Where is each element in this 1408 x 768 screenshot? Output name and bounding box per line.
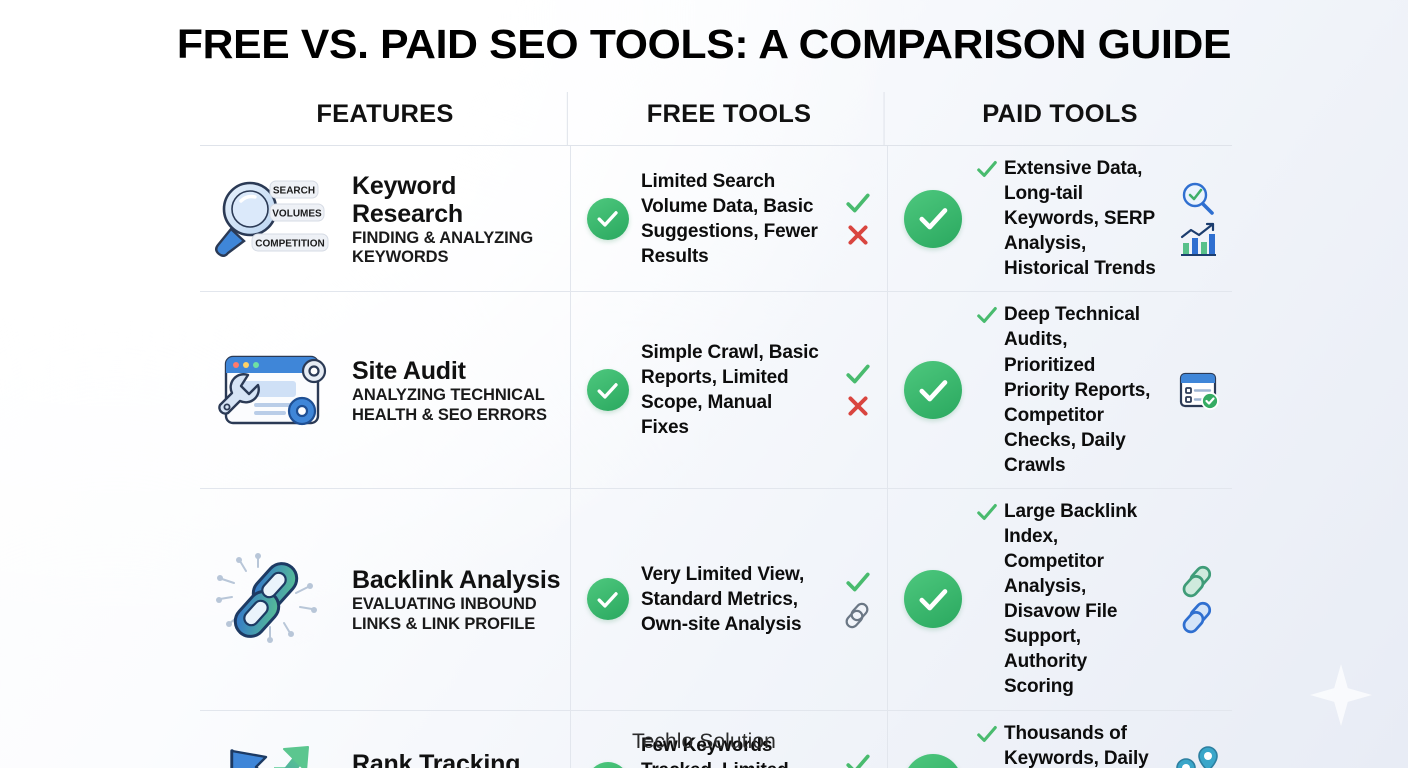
svg-text:VOLUMES: VOLUMES [272, 208, 322, 219]
feature-cell: Backlink Analysis EVALUATING INBOUND LIN… [200, 489, 570, 710]
site-audit-wrench-icon [210, 345, 338, 435]
paid-cell: Large Backlink Index, Competitor Analysi… [887, 489, 1232, 710]
free-value-text: Very Limited View, Standard Metrics, Own… [641, 562, 823, 637]
check-circle-icon [587, 369, 629, 411]
paid-cell: Deep Technical Audits, Prioritized Prior… [887, 292, 1232, 488]
check-circle-icon [587, 198, 629, 240]
free-cell: Very Limited View, Standard Metrics, Own… [570, 489, 887, 710]
check-icon [841, 361, 875, 387]
chain-link-network-icon [210, 553, 338, 645]
free-value-text: Limited Search Volume Data, Basic Sugges… [641, 169, 823, 269]
check-icon [974, 304, 1000, 326]
cross-icon [843, 393, 873, 419]
table-row: Backlink Analysis EVALUATING INBOUND LIN… [200, 489, 1232, 711]
feature-cell: SEARCH VOLUMES COMPETITION Keyword Resea… [200, 146, 570, 291]
svg-text:COMPETITION: COMPETITION [255, 238, 324, 249]
magnifier-keyword-icon: SEARCH VOLUMES COMPETITION [210, 173, 338, 265]
footer-brand: Techlo Solution [0, 730, 1408, 754]
paid-cell: Extensive Data, Long-tail Keywords, SERP… [887, 146, 1232, 291]
paid-value-text: Large Backlink Index, Competitor Analysi… [1004, 499, 1158, 700]
cross-icon [843, 222, 873, 248]
feature-name: Backlink Analysis [352, 566, 570, 594]
checklist-report-icon [1176, 368, 1220, 412]
svg-text:SEARCH: SEARCH [273, 185, 315, 196]
free-value-text: Simple Crawl, Basic Reports, Limited Sco… [641, 340, 823, 440]
check-icon [974, 158, 1000, 180]
feature-name: Site Audit [352, 357, 570, 385]
feature-name: Keyword Research [352, 172, 570, 228]
paid-value-text: Deep Technical Audits, Prioritized Prior… [1004, 302, 1158, 478]
free-cell: Simple Crawl, Basic Reports, Limited Sco… [570, 292, 887, 488]
column-header-features: FEATURES [196, 92, 573, 145]
feature-description: FINDING & ANALYZING KEYWORDS [352, 229, 570, 268]
feature-description: ANALYZING TECHNICAL HEALTH & SEO ERRORS [352, 386, 570, 425]
page-title: FREE VS. PAID SEO TOOLS: A COMPARISON GU… [0, 0, 1408, 66]
feature-cell: Site Audit ANALYZING TECHNICAL HEALTH & … [200, 292, 570, 488]
table-row: SEARCH VOLUMES COMPETITION Keyword Resea… [200, 146, 1232, 292]
free-cell: Limited Search Volume Data, Basic Sugges… [570, 146, 887, 291]
magnifier-check-icon [1177, 179, 1219, 219]
column-header-paid-tools: PAID TOOLS [884, 92, 1236, 145]
table-header-row: FEATURES FREE TOOLS PAID TOOLS [200, 92, 1232, 146]
bar-chart-trend-icon [1177, 221, 1219, 259]
check-icon [841, 190, 875, 216]
check-circle-icon [904, 570, 962, 628]
feature-description: EVALUATING INBOUND LINKS & LINK PROFILE [352, 595, 570, 634]
table-row: Site Audit ANALYZING TECHNICAL HEALTH & … [200, 292, 1232, 489]
link-icon [1178, 564, 1218, 598]
sparkle-decoration [1310, 664, 1372, 726]
check-circle-icon [587, 578, 629, 620]
link-icon [843, 601, 873, 629]
paid-value-text: Extensive Data, Long-tail Keywords, SERP… [1004, 156, 1158, 281]
check-icon [974, 501, 1000, 523]
check-circle-icon [587, 762, 629, 768]
check-circle-icon [904, 190, 962, 248]
check-icon [841, 569, 875, 595]
link-icon [1178, 600, 1218, 634]
check-circle-icon [904, 754, 962, 768]
comparison-table: FEATURES FREE TOOLS PAID TOOLS [200, 92, 1232, 768]
check-circle-icon [904, 361, 962, 419]
column-header-free-tools: FREE TOOLS [567, 92, 890, 145]
